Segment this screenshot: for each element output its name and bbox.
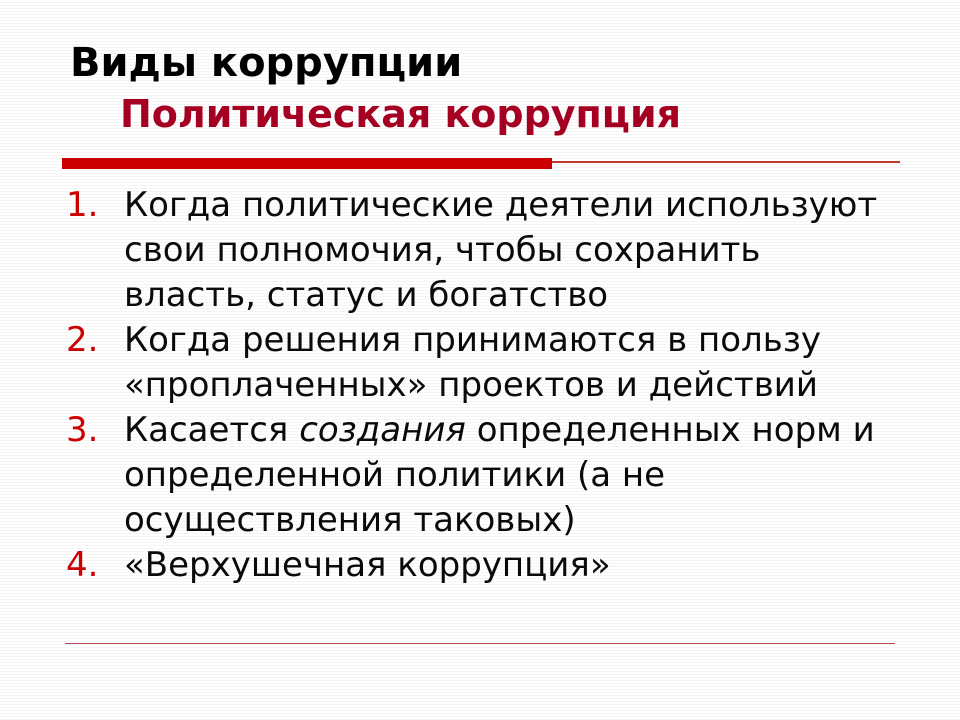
list-item-text: Когда решения принимаются в пользу «проп… bbox=[124, 318, 960, 408]
list-item-text: «Верхушечная коррупция» bbox=[124, 543, 960, 588]
divider-thin-line bbox=[552, 161, 900, 163]
numbered-list: 1. Когда политические деятели используют… bbox=[0, 183, 960, 588]
page-subtitle: Политическая коррупция bbox=[0, 88, 960, 138]
divider-thick-bar bbox=[62, 158, 552, 169]
list-item: 4. «Верхушечная коррупция» bbox=[0, 543, 960, 588]
list-item-text-emphasis: создания bbox=[299, 410, 466, 450]
list-item-number: 1. bbox=[66, 183, 124, 228]
list-item-text: Касается создания определенных норм и оп… bbox=[124, 408, 960, 543]
list-item-text-before: «Верхушечная коррупция» bbox=[124, 545, 611, 585]
list-item: 1. Когда политические деятели используют… bbox=[0, 183, 960, 318]
slide-canvas: Виды коррупции Политическая коррупция 1.… bbox=[0, 0, 960, 720]
list-item-number: 4. bbox=[66, 543, 124, 588]
list-item-number: 2. bbox=[66, 318, 124, 363]
page-title: Виды коррупции bbox=[0, 38, 960, 88]
list-item: 2. Когда решения принимаются в пользу «п… bbox=[0, 318, 960, 408]
title-block: Виды коррупции Политическая коррупция bbox=[0, 38, 960, 138]
list-item: 3. Касается создания определенных норм и… bbox=[0, 408, 960, 543]
list-item-text-before: Когда политические деятели используют св… bbox=[124, 185, 877, 315]
list-item-number: 3. bbox=[66, 408, 124, 453]
list-item-text-before: Когда решения принимаются в пользу «проп… bbox=[124, 320, 821, 405]
list-item-text: Когда политические деятели используют св… bbox=[124, 183, 960, 318]
title-divider bbox=[0, 156, 960, 170]
list-item-text-before: Касается bbox=[124, 410, 299, 450]
rule-above-item-4 bbox=[65, 643, 895, 644]
